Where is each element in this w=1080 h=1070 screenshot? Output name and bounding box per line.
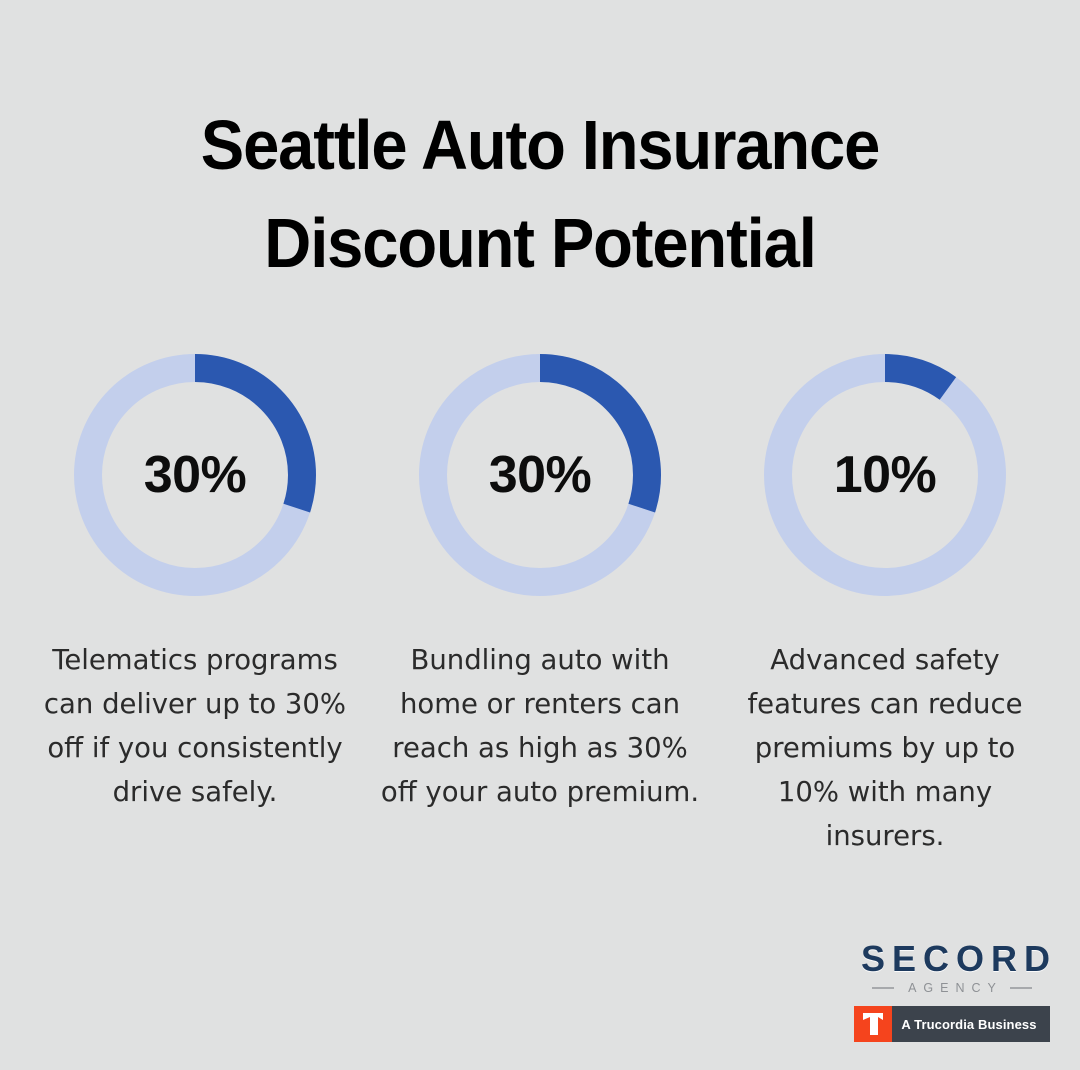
donut-value-safety-features: 10% — [764, 354, 1006, 596]
trucordia-badge-label: A Trucordia Business — [892, 1006, 1050, 1042]
stat-column-bundling: 30% Bundling auto with home or renters c… — [368, 348, 713, 814]
stat-caption-safety-features: Advanced safety features can reduce prem… — [725, 638, 1045, 858]
logo-rule-left-icon — [872, 987, 894, 989]
donut-value-telematics: 30% — [74, 354, 316, 596]
stat-column-safety-features: 10% Advanced safety features can reduce … — [713, 348, 1058, 858]
logo-subtitle-row: AGENCY — [854, 981, 1050, 995]
logo-wordmark: SECORD — [854, 939, 1050, 979]
trucordia-badge: A Trucordia Business — [854, 1006, 1050, 1042]
logo-subtitle: AGENCY — [901, 981, 1003, 995]
donut-chart-safety-features: 10% — [764, 354, 1006, 596]
page-title-line-1: Seattle Auto Insurance — [38, 96, 1042, 194]
stat-caption-bundling: Bundling auto with home or renters can r… — [380, 638, 700, 814]
donut-chart-bundling: 30% — [419, 354, 661, 596]
infographic-canvas: Seattle Auto Insurance Discount Potentia… — [0, 0, 1080, 1070]
trucordia-t-glyph-icon — [862, 1012, 884, 1036]
logo-rule-right-icon — [1010, 987, 1032, 989]
stat-caption-telematics: Telematics programs can deliver up to 30… — [35, 638, 355, 814]
stat-column-telematics: 30% Telematics programs can deliver up t… — [23, 348, 368, 814]
stat-columns: 30% Telematics programs can deliver up t… — [0, 348, 1080, 858]
donut-value-bundling: 30% — [419, 354, 661, 596]
trucordia-t-mark-icon — [854, 1006, 892, 1042]
brand-logo: SECORD AGENCY A Trucordia Business — [854, 939, 1050, 1042]
donut-chart-telematics: 30% — [74, 354, 316, 596]
page-title: Seattle Auto Insurance Discount Potentia… — [0, 96, 1080, 292]
page-title-line-2: Discount Potential — [38, 194, 1042, 292]
